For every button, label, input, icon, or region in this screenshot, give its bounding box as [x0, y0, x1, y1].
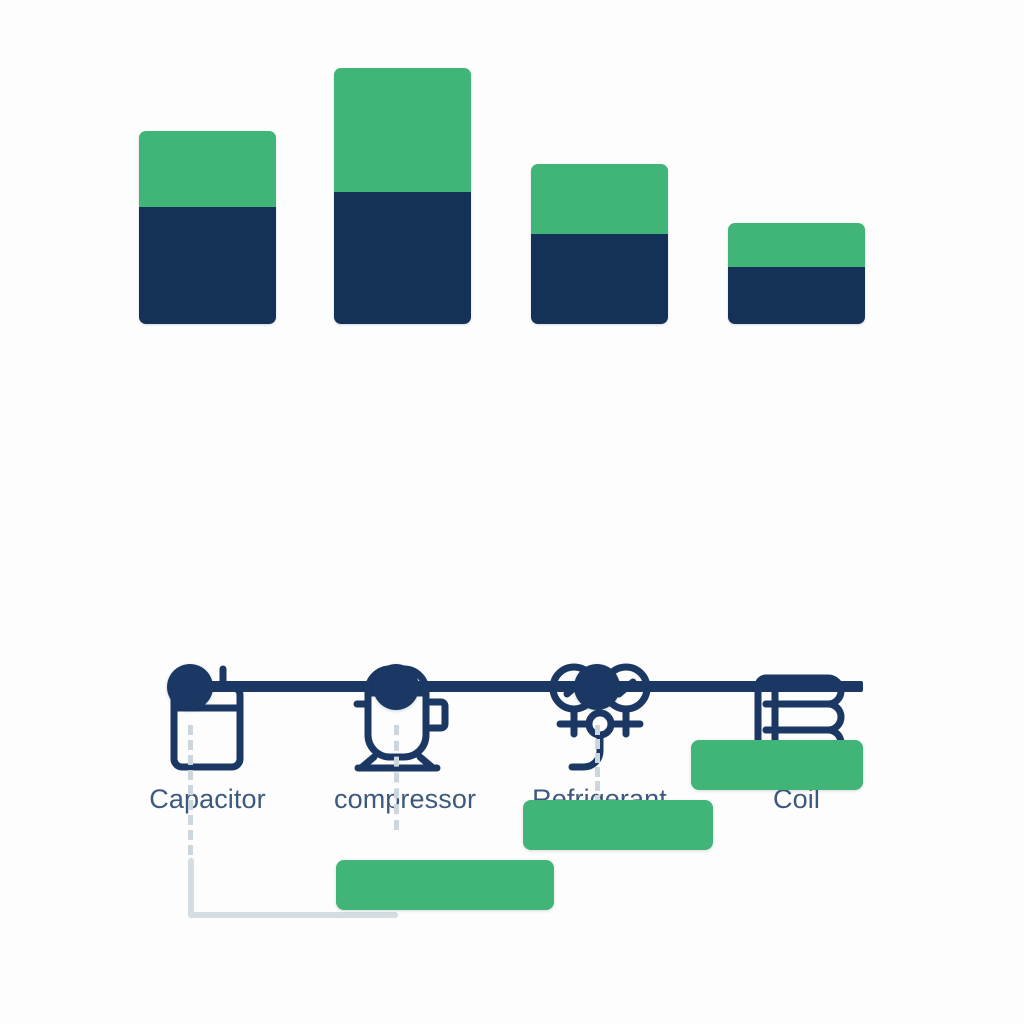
gantt-axis-horizontal — [188, 912, 398, 918]
bar-segment-upper-coil — [728, 223, 865, 267]
timeline-milestone-2[interactable] — [373, 664, 419, 710]
bar-segment-upper-capacitor — [139, 131, 276, 207]
infographic-canvas: Capacitor compressor — [0, 0, 1024, 1024]
gantt-bar-2[interactable] — [523, 800, 713, 850]
stacked-bar-refrigerant[interactable] — [531, 164, 668, 324]
gantt-bar-3[interactable] — [691, 740, 863, 790]
timeline-connector-2 — [394, 725, 399, 830]
stacked-bar-coil[interactable] — [728, 223, 865, 324]
timeline-axis — [190, 681, 863, 692]
timeline-connector-1 — [188, 725, 193, 855]
gantt-axis-vertical — [188, 858, 194, 918]
gantt-bar-1[interactable] — [336, 860, 554, 910]
timeline-gantt-section — [0, 600, 1024, 1024]
timeline-milestone-3[interactable] — [574, 664, 620, 710]
stacked-bar-chart: Capacitor compressor — [0, 0, 1024, 560]
bar-segment-lower-coil — [728, 267, 865, 324]
stacked-bar-compressor[interactable] — [334, 68, 471, 324]
bar-segment-lower-capacitor — [139, 207, 276, 324]
stacked-bar-capacitor[interactable] — [139, 131, 276, 324]
timeline-milestone-1[interactable] — [167, 664, 213, 710]
bar-segment-upper-refrigerant — [531, 164, 668, 234]
timeline-connector-3 — [595, 725, 600, 805]
bar-segment-lower-compressor — [334, 192, 471, 324]
bar-segment-lower-refrigerant — [531, 234, 668, 324]
bar-segment-upper-compressor — [334, 68, 471, 192]
